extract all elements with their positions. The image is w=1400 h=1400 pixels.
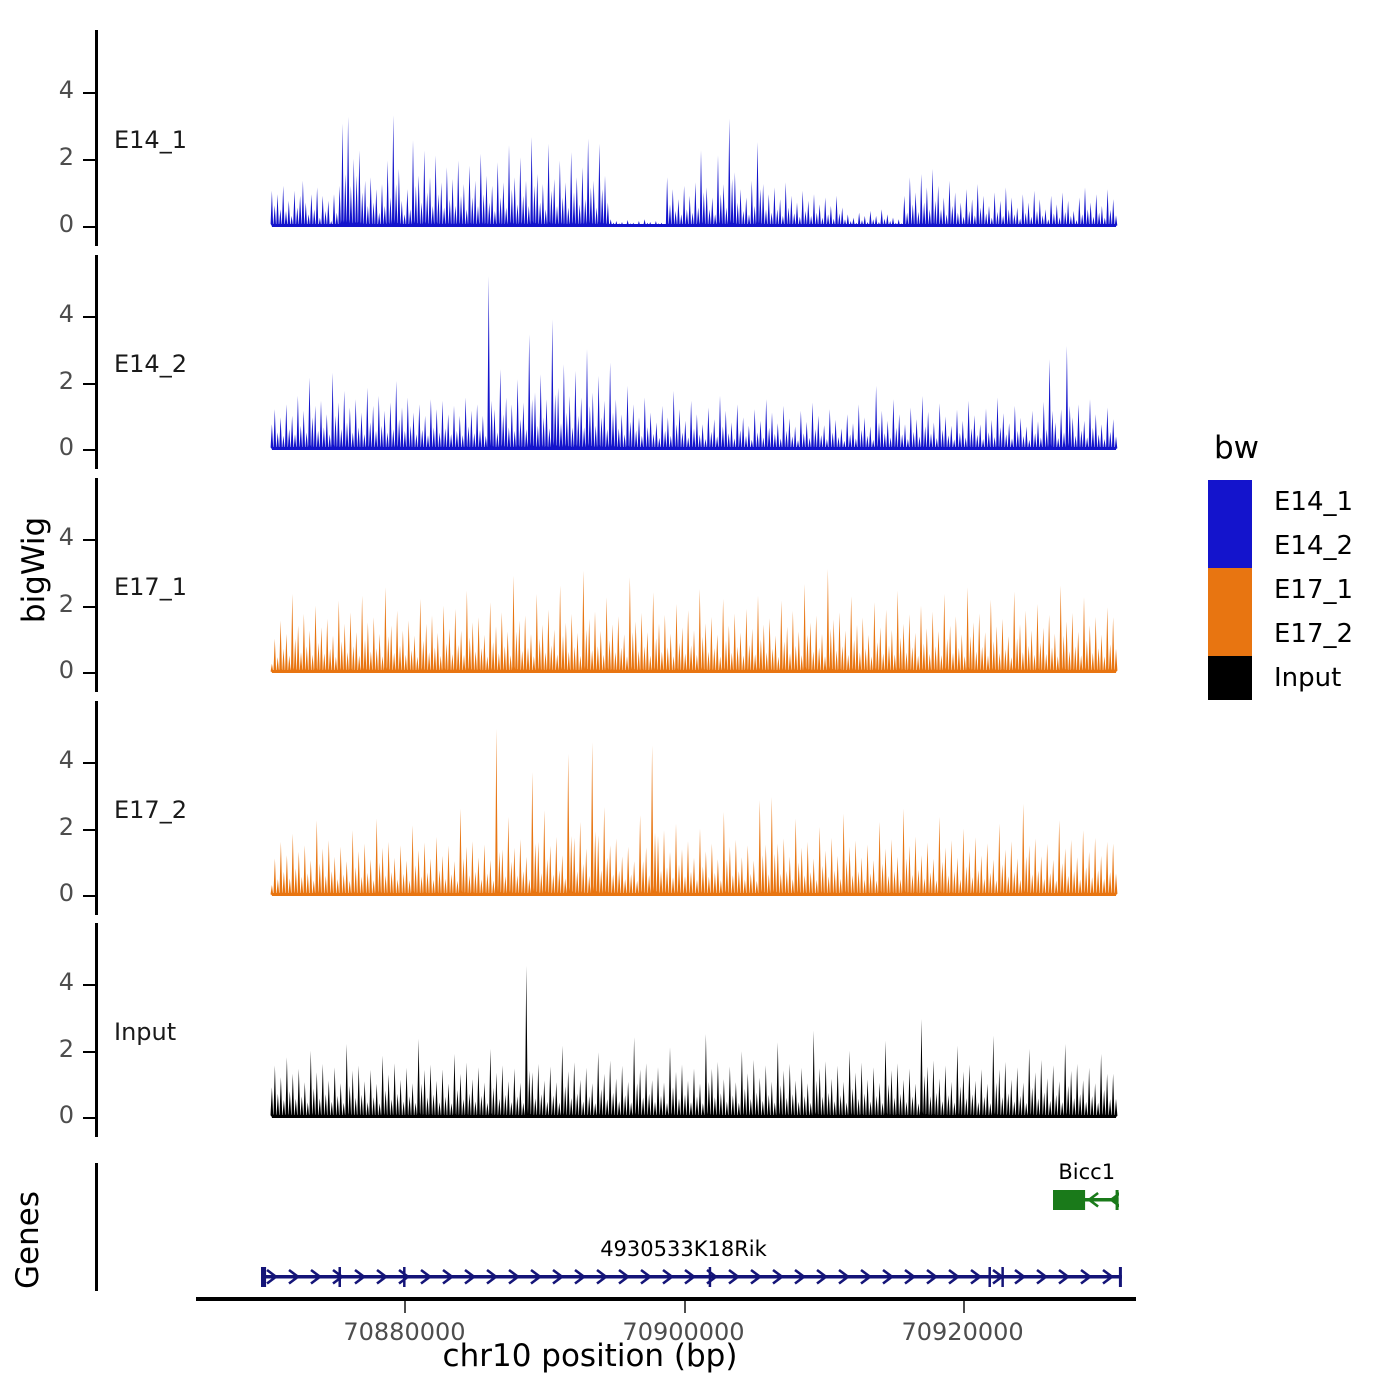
genes-axis-spine: [95, 1163, 98, 1291]
track-label-e17_2: E17_2: [114, 796, 187, 824]
gene-4930533k18rik[interactable]: [261, 1261, 1122, 1293]
y-tick: [83, 895, 95, 897]
y-tick-label: 4: [34, 78, 74, 102]
y-axis-spine: [95, 255, 98, 469]
signal-area-e17_1: [237, 478, 1130, 676]
y-axis-spine: [95, 923, 98, 1137]
y-tick-label: 0: [34, 212, 74, 236]
x-tick-label: 70880000: [343, 1318, 465, 1346]
x-tick: [963, 1301, 965, 1313]
y-tick-label: 2: [34, 815, 74, 839]
y-tick: [83, 672, 95, 674]
signal-area-e14_2: [237, 255, 1130, 453]
legend: bw E14_1E14_2E17_1E17_2Input: [1208, 430, 1353, 700]
y-tick-label: 2: [34, 1037, 74, 1061]
y-axis-spine: [95, 478, 98, 692]
signal-area-e14_1: [237, 30, 1130, 230]
x-tick: [404, 1301, 406, 1313]
legend-swatch-icon: [1208, 568, 1252, 612]
track-label-e17_1: E17_1: [114, 573, 187, 601]
y-tick-label: 4: [34, 525, 74, 549]
genome-browser-figure: bigWig Genes chr10 position (bp) 024E14_…: [0, 0, 1400, 1400]
y-tick-label: 0: [34, 881, 74, 905]
gene-label-4930533k18rik: 4930533K18Rik: [600, 1237, 767, 1261]
y-tick-label: 0: [34, 435, 74, 459]
signal-area-e17_2: [237, 701, 1130, 899]
gene-bicc1[interactable]: [1053, 1184, 1119, 1216]
y-tick-label: 2: [34, 369, 74, 393]
legend-swatch-icon: [1208, 612, 1252, 656]
legend-title: bw: [1214, 430, 1353, 466]
y-tick: [83, 762, 95, 764]
y-tick: [83, 606, 95, 608]
legend-item-input[interactable]: Input: [1208, 656, 1353, 700]
y-tick: [83, 1051, 95, 1053]
y-tick-label: 4: [34, 970, 74, 994]
signal-area-input: [237, 923, 1130, 1121]
legend-swatch-icon: [1208, 524, 1252, 568]
y-tick: [83, 226, 95, 228]
legend-label: E14_1: [1274, 487, 1353, 517]
y-tick-label: 0: [34, 658, 74, 682]
track-label-input: Input: [114, 1018, 176, 1046]
legend-swatch-icon: [1208, 480, 1252, 524]
y-axis-spine: [95, 30, 98, 246]
gene-label-bicc1: Bicc1: [1058, 1160, 1115, 1184]
y-tick: [83, 1117, 95, 1119]
y-tick: [83, 383, 95, 385]
track-label-e14_1: E14_1: [114, 126, 187, 154]
y-tick: [83, 316, 95, 318]
y-tick: [83, 159, 95, 161]
y-tick-label: 2: [34, 145, 74, 169]
legend-label: E17_2: [1274, 619, 1353, 649]
x-tick-label: 70900000: [622, 1318, 744, 1346]
track-label-e14_2: E14_2: [114, 350, 187, 378]
legend-item-e14_1[interactable]: E14_1: [1208, 480, 1353, 524]
legend-label: E17_1: [1274, 575, 1353, 605]
y-tick: [83, 984, 95, 986]
x-tick-label: 70920000: [901, 1318, 1023, 1346]
legend-label: Input: [1274, 663, 1341, 693]
x-axis-line: [196, 1297, 1136, 1301]
y-tick: [83, 92, 95, 94]
y-tick: [83, 829, 95, 831]
legend-item-e17_2[interactable]: E17_2: [1208, 612, 1353, 656]
y-tick: [83, 449, 95, 451]
legend-entries: E14_1E14_2E17_1E17_2Input: [1208, 480, 1353, 700]
x-tick: [684, 1301, 686, 1313]
legend-label: E14_2: [1274, 531, 1353, 561]
y-tick-label: 4: [34, 748, 74, 772]
y-tick: [83, 539, 95, 541]
legend-item-e14_2[interactable]: E14_2: [1208, 524, 1353, 568]
y-tick-label: 2: [34, 592, 74, 616]
y-tick-label: 0: [34, 1103, 74, 1127]
legend-item-e17_1[interactable]: E17_1: [1208, 568, 1353, 612]
y-axis-title-genes: Genes: [0, 1220, 93, 1260]
y-axis-spine: [95, 701, 98, 915]
y-tick-label: 4: [34, 302, 74, 326]
legend-swatch-icon: [1208, 656, 1252, 700]
